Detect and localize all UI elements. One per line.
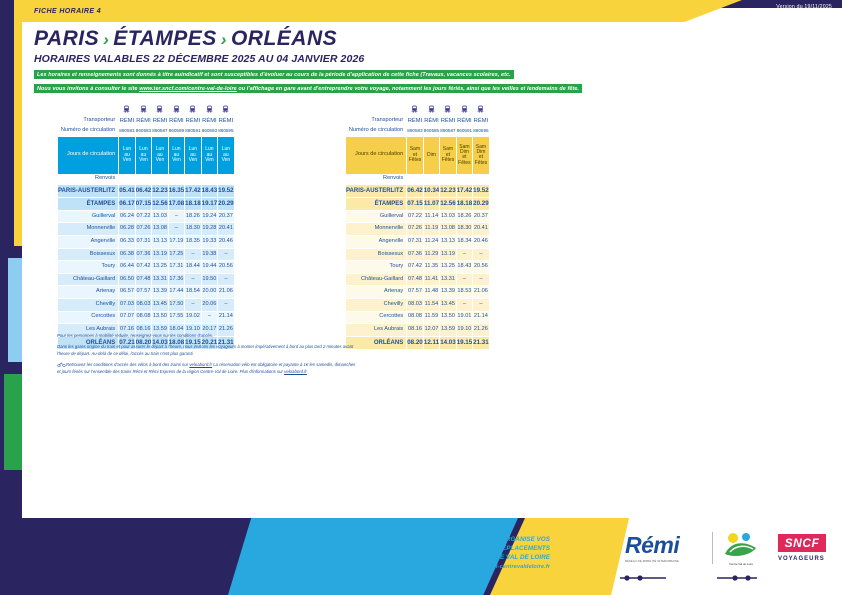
time-cell: 11.07	[423, 197, 439, 210]
renvois-cell	[135, 174, 151, 184]
station-name-cell: Château-Gaillard	[346, 273, 407, 286]
time-cell: 18.18	[456, 197, 472, 210]
time-cell: –	[473, 273, 489, 286]
carrier-cell: RÉMI	[407, 116, 423, 126]
time-cell: 06.33	[119, 236, 135, 249]
time-cell: 19.01	[456, 311, 472, 324]
carrier-cell: RÉMI	[119, 116, 135, 126]
time-cell: 13.39	[440, 286, 456, 299]
time-cell: 13.31	[440, 273, 456, 286]
time-cell: 08.03	[407, 299, 423, 312]
table-row: Chevilly07.0308.0313.4517.50–20.06–	[58, 299, 235, 312]
service-days-cell: LunauVen	[152, 136, 168, 174]
table-row: Angerville07.3111.2413.1318.3420.46	[346, 236, 490, 249]
time-cell: 20.29	[473, 197, 489, 210]
time-cell: 11.59	[423, 311, 439, 324]
chevron-right-icon-1: ›	[99, 30, 113, 49]
time-cell: 20.41	[473, 223, 489, 236]
time-cell: 07.15	[135, 197, 151, 210]
time-cell: 19.10	[456, 324, 472, 337]
time-cell: 06.57	[119, 286, 135, 299]
service-days-row-label: Jours de circulation	[58, 136, 119, 174]
service-days-cell: LunauVen	[119, 136, 135, 174]
train-number-cell: 860595	[218, 126, 234, 136]
renvois-row-label: Renvois	[346, 174, 407, 184]
train-icon	[135, 105, 151, 117]
time-cell: –	[168, 210, 184, 223]
time-cell: 18.44	[185, 261, 201, 274]
service-days-cell: LunauVen	[201, 136, 217, 174]
time-cell: 21.06	[218, 286, 234, 299]
time-cell: 12.56	[440, 197, 456, 210]
time-cell: –	[218, 273, 234, 286]
service-days-cell: LunauVen	[135, 136, 151, 174]
time-cell: 17.42	[185, 184, 201, 197]
renvois-cell	[218, 174, 234, 184]
table-row: Boissesux06.3807.3613.1917.25–19.38–	[58, 248, 235, 261]
train-number-cell: 860591	[456, 126, 472, 136]
carrier-cell: RÉMI	[152, 116, 168, 126]
table-row: Chevilly08.0311.5413.45––	[346, 299, 490, 312]
service-days-row: Jours de circulationLunauVenLunauVenLuna…	[58, 136, 235, 174]
time-cell: 06.17	[119, 197, 135, 210]
renvois-cell	[440, 174, 456, 184]
carrier-cell: RÉMI	[440, 116, 456, 126]
time-cell: 13.50	[152, 311, 168, 324]
carrier-row: TransporteurRÉMIRÉMIRÉMIRÉMIRÉMI	[346, 116, 490, 126]
table-row: Cercottes08.0811.5913.5019.0121.14	[346, 311, 490, 324]
time-cell: 13.45	[152, 299, 168, 312]
renvois-row: Renvois	[58, 174, 235, 184]
time-cell: 18.30	[456, 223, 472, 236]
notice-bar-2: Nous vous invitons à consulter le site w…	[34, 84, 582, 93]
time-cell: 20.29	[218, 197, 234, 210]
remi-tagline: RÉSEAU DE MOBILITÉ INTERURBAINE	[625, 560, 679, 563]
time-cell: 13.31	[152, 273, 168, 286]
timetable-weekend: TransporteurRÉMIRÉMIRÉMIRÉMIRÉMINuméro d…	[345, 104, 490, 350]
carrier-cell: RÉMI	[168, 116, 184, 126]
train-icon	[168, 105, 184, 117]
spacer-cell	[346, 105, 407, 117]
time-cell: 19.17	[201, 197, 217, 210]
table-row: ÉTAMPES06.1707.1512.5617.0818.1819.1720.…	[58, 197, 235, 210]
time-cell: 06.24	[119, 210, 135, 223]
station-name-cell: Boissesux	[58, 248, 119, 261]
time-cell: 18.18	[185, 197, 201, 210]
time-cell: 06.42	[407, 184, 423, 197]
logo-divider	[712, 532, 713, 564]
train-number-cell: 860595	[473, 126, 489, 136]
table-row: Château-Gaillard07.4811.4113.31––	[346, 273, 490, 286]
table-row: PARIS-AUSTERLITZ06.4210.3412.2317.4219.5…	[346, 184, 490, 197]
remi-dots-right	[717, 568, 757, 586]
time-cell: 06.28	[119, 223, 135, 236]
table-row: Monnerville06.2807.2613.08–18.3019.2820.…	[58, 223, 235, 236]
renvois-cell	[152, 174, 168, 184]
train-number-cell: 860593	[201, 126, 217, 136]
time-cell: 13.50	[440, 311, 456, 324]
spacer-cell	[58, 105, 119, 117]
time-cell: 20.41	[218, 223, 234, 236]
train-number-cell: 860583	[135, 126, 151, 136]
station-name-cell: Artenay	[346, 286, 407, 299]
time-cell: 11.35	[423, 261, 439, 274]
renvois-row: Renvois	[346, 174, 490, 184]
time-cell: 07.48	[135, 273, 151, 286]
time-cell: 17.19	[168, 236, 184, 249]
time-cell: 07.31	[135, 236, 151, 249]
table-row: Toury06.4407.4213.2517.3118.4419.4420.56	[58, 261, 235, 274]
time-cell: 20.37	[218, 210, 234, 223]
train-number-cell: 860591	[185, 126, 201, 136]
footnote-bike-pre: Retrouvez les conditions d'accès des vél…	[66, 362, 189, 367]
station-name-cell: Angerville	[346, 236, 407, 249]
service-days-cell: SametFêtes	[440, 136, 456, 174]
time-cell: 13.19	[152, 248, 168, 261]
time-cell: 12.56	[152, 197, 168, 210]
time-cell: 17.44	[168, 286, 184, 299]
yellow-header-notch	[22, 0, 742, 22]
station-name-cell: Toury	[346, 261, 407, 274]
table-row: Guillerval06.2407.2213.03–18.2619.2420.3…	[58, 210, 235, 223]
slogan-line-1: LA RÉGION ORGANISE VOS DÉPLACEMENTS	[425, 536, 550, 554]
timetable-page: Version du 19/11/2025 FICHE HORAIRE 4 PA…	[0, 0, 842, 595]
veloabord-link-2[interactable]: veloabord.fr	[284, 369, 307, 374]
station-name-cell: ÉTAMPES	[58, 197, 119, 210]
time-cell: 07.26	[407, 223, 423, 236]
table-row: ORLÉANS08.2012.1114.0319.1521.31	[346, 336, 490, 349]
train-icon	[407, 105, 423, 117]
renvois-cell	[423, 174, 439, 184]
time-cell: –	[218, 299, 234, 312]
time-cell: –	[185, 248, 201, 261]
time-cell: 19.50	[201, 273, 217, 286]
time-cell: 10.34	[423, 184, 439, 197]
time-cell: 08.08	[135, 311, 151, 324]
train-icon	[185, 105, 201, 117]
footnote-boarding: Dans les gares origine du train et pour …	[57, 344, 357, 357]
time-cell: 12.11	[423, 336, 439, 349]
time-cell: 18.34	[456, 236, 472, 249]
service-days-cell: LunauVen	[218, 136, 234, 174]
time-cell: 07.22	[407, 210, 423, 223]
time-cell: 17.31	[168, 261, 184, 274]
time-cell: 07.36	[135, 248, 151, 261]
time-cell: 13.25	[152, 261, 168, 274]
train-number-row-label: Numéro de circulation	[58, 126, 119, 136]
station-name-cell: Chevilly	[58, 299, 119, 312]
station-name-cell: Cercottes	[58, 311, 119, 324]
time-cell: 13.03	[440, 210, 456, 223]
ter-website-link[interactable]: www.ter.sncf.com/centre-val-de-loire	[139, 86, 237, 92]
time-cell: 19.44	[201, 261, 217, 274]
time-cell: 19.38	[201, 248, 217, 261]
renvois-cell	[407, 174, 423, 184]
time-cell: 20.46	[218, 236, 234, 249]
time-cell: –	[185, 273, 201, 286]
service-days-row: Jours de circulationSametFêtesDimSametFê…	[346, 136, 490, 174]
time-cell: 11.29	[423, 248, 439, 261]
renvois-cell	[473, 174, 489, 184]
time-cell: 07.22	[135, 210, 151, 223]
time-cell: 06.50	[119, 273, 135, 286]
time-cell: 19.52	[218, 184, 234, 197]
time-cell: –	[473, 299, 489, 312]
renvois-cell	[119, 174, 135, 184]
time-cell: 12.07	[423, 324, 439, 337]
time-cell: 20.06	[201, 299, 217, 312]
carrier-cell: RÉMI	[135, 116, 151, 126]
time-cell: 18.54	[185, 286, 201, 299]
time-cell: 13.19	[440, 248, 456, 261]
time-cell: 19.52	[473, 184, 489, 197]
time-cell: 13.13	[440, 236, 456, 249]
time-cell: 13.39	[152, 286, 168, 299]
veloabord-link-1[interactable]: veloabord.fr	[189, 362, 212, 367]
time-cell: 18.26	[185, 210, 201, 223]
carrier-cell: RÉMI	[423, 116, 439, 126]
time-cell: 11.19	[423, 223, 439, 236]
title-via: ÉTAMPES	[113, 27, 216, 50]
time-cell: –	[185, 299, 201, 312]
time-cell: 20.56	[218, 261, 234, 274]
table-row: Artenay07.5711.4813.3918.5321.06	[346, 286, 490, 299]
table-row: Boissesux07.3611.2913.19––	[346, 248, 490, 261]
carrier-row-label: Transporteur	[58, 116, 119, 126]
service-days-row-label: Jours de circulation	[346, 136, 407, 174]
carrier-row: TransporteurRÉMIRÉMIRÉMIRÉMIRÉMIRÉMIRÉMI	[58, 116, 235, 126]
train-icon	[423, 105, 439, 117]
time-cell: 18.43	[456, 261, 472, 274]
carrier-cell: RÉMI	[473, 116, 489, 126]
time-cell: 13.03	[152, 210, 168, 223]
time-cell: 16.35	[168, 184, 184, 197]
station-name-cell: Angerville	[58, 236, 119, 249]
train-number-cell: 860587	[440, 126, 456, 136]
fiche-horaire-label: FICHE HORAIRE 4	[34, 8, 101, 15]
header-icon-row	[58, 105, 235, 117]
carrier-cell: RÉMI	[201, 116, 217, 126]
time-cell: 17.08	[168, 197, 184, 210]
notice-2-post: ou l'affichage en gare avant d'entrepren…	[237, 86, 579, 92]
service-days-cell: SamDimetFêtes	[456, 136, 472, 174]
header-icon-row	[346, 105, 490, 117]
remi-logo: Rémi RÉSEAU DE MOBILITÉ INTERURBAINE	[625, 534, 679, 563]
time-cell: 21.26	[473, 324, 489, 337]
train-icon	[201, 105, 217, 117]
time-cell: 21.14	[473, 311, 489, 324]
train-icon	[473, 105, 489, 117]
carrier-cell: RÉMI	[218, 116, 234, 126]
station-name-cell: ÉTAMPES	[346, 197, 407, 210]
time-cell: 05.41	[119, 184, 135, 197]
time-cell: 11.41	[423, 273, 439, 286]
time-cell: 11.14	[423, 210, 439, 223]
carrier-cell: RÉMI	[456, 116, 472, 126]
title-destination: ORLÉANS	[231, 27, 337, 50]
train-number-cell: 860585	[423, 126, 439, 136]
time-cell: 18.35	[185, 236, 201, 249]
time-cell: 11.54	[423, 299, 439, 312]
time-cell: 08.20	[407, 336, 423, 349]
time-cell: 17.42	[456, 184, 472, 197]
time-cell: 20.00	[201, 286, 217, 299]
service-days-cell: LunauVen	[185, 136, 201, 174]
time-cell: 19.02	[185, 311, 201, 324]
carrier-cell: RÉMI	[185, 116, 201, 126]
train-icon	[152, 105, 168, 117]
slogan-url: www.remi-centrevaldeloire.fr	[425, 563, 550, 571]
time-cell: –	[473, 248, 489, 261]
station-name-cell: PARIS-AUSTERLITZ	[58, 184, 119, 197]
time-cell: –	[456, 299, 472, 312]
time-cell: 19.33	[201, 236, 217, 249]
bicycle-icon	[57, 362, 66, 367]
footnotes: Pour les personnes à mobilité réduite, r…	[57, 333, 357, 380]
table-row: Les Aubrais08.1612.0713.5919.1021.26	[346, 324, 490, 337]
time-cell: 07.36	[407, 248, 423, 261]
time-cell: –	[456, 248, 472, 261]
time-cell: 17.55	[168, 311, 184, 324]
time-cell: 18.43	[201, 184, 217, 197]
train-number-row-label: Numéro de circulation	[346, 126, 407, 136]
time-cell: 07.42	[407, 261, 423, 274]
time-cell: 14.03	[440, 336, 456, 349]
footnote-bike: Retrouvez les conditions d'accès des vél…	[57, 362, 357, 375]
footer-band: LA RÉGION ORGANISE VOS DÉPLACEMENTS EN C…	[0, 518, 842, 595]
train-number-cell: 860583	[407, 126, 423, 136]
station-name-cell: Artenay	[58, 286, 119, 299]
station-name-cell: Toury	[58, 261, 119, 274]
train-icon	[440, 105, 456, 117]
time-cell: 11.24	[423, 236, 439, 249]
time-cell: 13.59	[440, 324, 456, 337]
renvois-cell	[185, 174, 201, 184]
time-cell: 07.07	[119, 311, 135, 324]
station-name-cell: Cercottes	[346, 311, 407, 324]
train-number-cell: 860581	[119, 126, 135, 136]
time-cell: 13.08	[152, 223, 168, 236]
time-cell: 07.57	[135, 286, 151, 299]
station-name-cell: Boissesux	[346, 248, 407, 261]
time-cell: 20.46	[473, 236, 489, 249]
time-cell: 19.28	[201, 223, 217, 236]
remi-logo-text: Rémi	[625, 534, 679, 557]
table-row: Guillerval07.2211.1413.0318.2620.37	[346, 210, 490, 223]
train-icon	[456, 105, 472, 117]
time-cell: –	[201, 311, 217, 324]
time-cell: 20.37	[473, 210, 489, 223]
train-number-row: Numéro de circulation8605818605838605878…	[58, 126, 235, 136]
service-days-cell: SamDimetFêtes	[473, 136, 489, 174]
time-cell: 18.26	[456, 210, 472, 223]
time-cell: –	[456, 273, 472, 286]
time-cell: 08.08	[407, 311, 423, 324]
time-cell: 17.50	[168, 299, 184, 312]
renvois-cell	[168, 174, 184, 184]
time-cell: 07.26	[135, 223, 151, 236]
time-cell: 13.08	[440, 223, 456, 236]
time-cell: 06.42	[135, 184, 151, 197]
region-slogan: LA RÉGION ORGANISE VOS DÉPLACEMENTS EN C…	[425, 536, 550, 571]
region-logo-text: Centre-Val de Loire	[722, 562, 760, 566]
time-cell: 07.48	[407, 273, 423, 286]
time-cell: 21.31	[473, 336, 489, 349]
train-number-cell: 860589	[168, 126, 184, 136]
table-row: Château-Gaillard06.5007.4813.3117.36–19.…	[58, 273, 235, 286]
service-days-cell: Dim	[423, 136, 439, 174]
time-cell: 12.23	[152, 184, 168, 197]
time-cell: 07.57	[407, 286, 423, 299]
time-cell: 20.56	[473, 261, 489, 274]
station-name-cell: PARIS-AUSTERLITZ	[346, 184, 407, 197]
slogan-line-2: EN CENTRE VAL DE LOIRE	[425, 554, 550, 563]
time-cell: 07.31	[407, 236, 423, 249]
train-icon	[119, 105, 135, 117]
time-cell: 11.48	[423, 286, 439, 299]
time-cell: 07.42	[135, 261, 151, 274]
renvois-cell	[201, 174, 217, 184]
time-cell: 06.44	[119, 261, 135, 274]
station-name-cell: Monnerville	[346, 223, 407, 236]
table-row: Monnerville07.2611.1913.0818.3020.41	[346, 223, 490, 236]
train-icon	[218, 105, 234, 117]
table-row: Cercottes07.0708.0813.5017.5519.02–21.14	[58, 311, 235, 324]
page-title: PARIS›ÉTAMPES›ORLÉANS	[34, 27, 337, 51]
table-row: Toury07.4211.3513.2518.4320.56	[346, 261, 490, 274]
time-cell: 19.15	[456, 336, 472, 349]
train-number-row: Numéro de circulation8605838605858605878…	[346, 126, 490, 136]
station-name-cell: Château-Gaillard	[58, 273, 119, 286]
carrier-row-label: Transporteur	[346, 116, 407, 126]
station-name-cell: Guillerval	[346, 210, 407, 223]
renvois-cell	[456, 174, 472, 184]
time-cell: 17.36	[168, 273, 184, 286]
time-cell: 21.06	[473, 286, 489, 299]
notice-bar-1: Les horaires et renseignements sont donn…	[34, 70, 514, 79]
table-row: Artenay06.5707.5713.3917.4418.5420.0021.…	[58, 286, 235, 299]
time-cell: 18.53	[456, 286, 472, 299]
time-cell: 08.16	[407, 324, 423, 337]
renvois-row-label: Renvois	[58, 174, 119, 184]
sncf-voyageurs-label: VOYAGEURS	[778, 556, 825, 562]
station-name-cell: Guillerval	[58, 210, 119, 223]
time-cell: 21.14	[218, 311, 234, 324]
region-logo: Centre-Val de Loire	[722, 532, 760, 566]
time-cell: 06.38	[119, 248, 135, 261]
table-row: Angerville06.3307.3113.1317.1918.3519.33…	[58, 236, 235, 249]
validity-subtitle: HORAIRES VALABLES 22 DÉCEMBRE 2025 AU 04…	[34, 53, 364, 65]
notice-2-pre: Nous vous invitons à consulter le site	[37, 86, 139, 92]
table-row: ÉTAMPES07.1511.0712.5618.1820.29	[346, 197, 490, 210]
table-row: PARIS-AUSTERLITZ05.4106.4212.2316.3517.4…	[58, 184, 235, 197]
service-days-cell: LunauVen	[168, 136, 184, 174]
station-name-cell: Chevilly	[346, 299, 407, 312]
time-cell: –	[168, 223, 184, 236]
time-cell: 13.13	[152, 236, 168, 249]
time-cell: 07.15	[407, 197, 423, 210]
timetable-weekday: TransporteurRÉMIRÉMIRÉMIRÉMIRÉMIRÉMIRÉMI…	[57, 104, 235, 350]
time-cell: 18.30	[185, 223, 201, 236]
sncf-logo: SNCF	[778, 534, 826, 552]
time-cell: 19.24	[201, 210, 217, 223]
remi-dots-left	[620, 568, 666, 586]
footnote-accessibility: Pour les personnes à mobilité réduite, r…	[57, 333, 357, 339]
service-days-cell: SametFêtes	[407, 136, 423, 174]
time-cell: 13.25	[440, 261, 456, 274]
time-cell: 17.25	[168, 248, 184, 261]
time-cell: –	[218, 248, 234, 261]
